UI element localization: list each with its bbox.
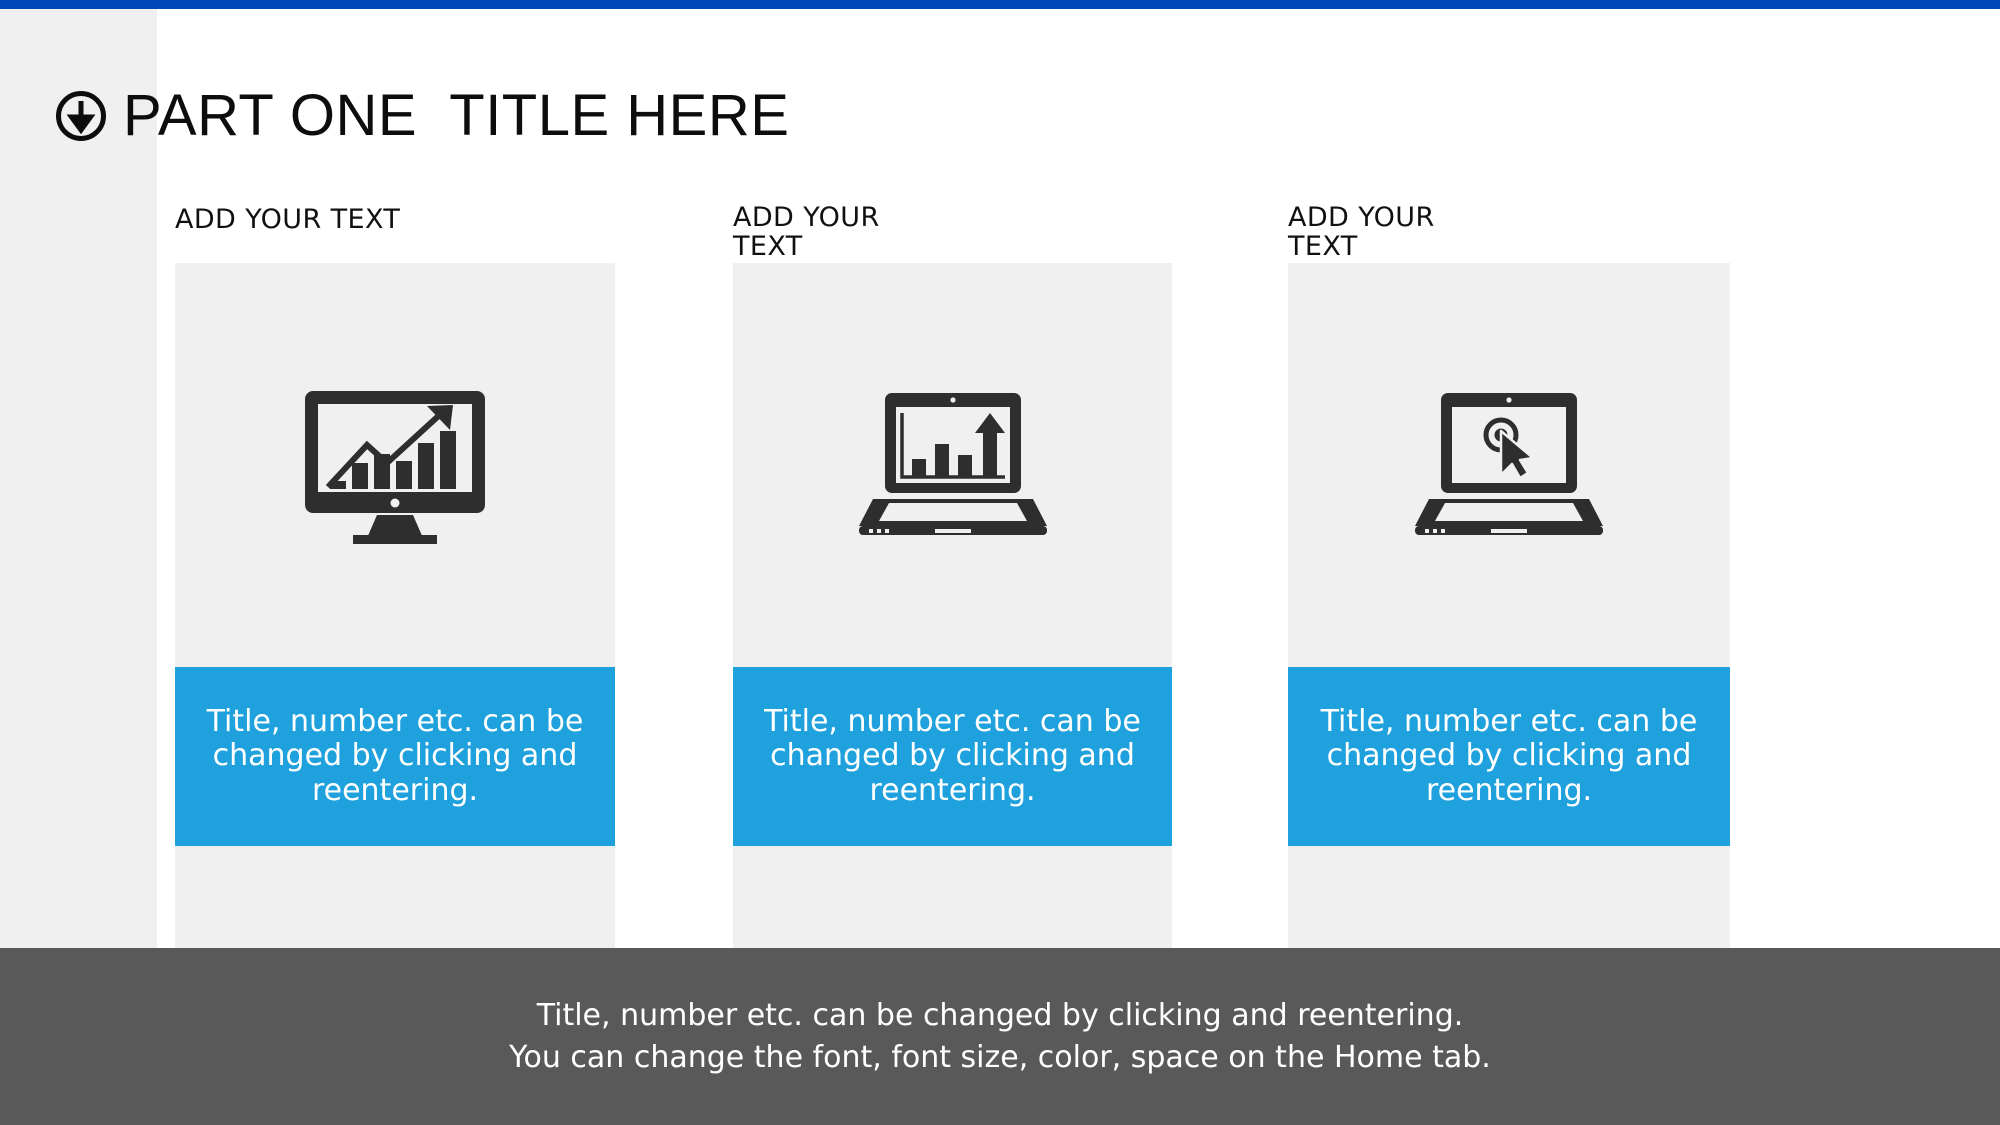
card-caption-2: Title, number etc. can be changed by cli… [733,667,1172,846]
card-caption-3: Title, number etc. can be changed by cli… [1288,667,1730,846]
card-header-2: ADD YOUR TEXT [733,203,880,261]
laptop-bar-chart-arrow-icon [853,383,1053,548]
content-card-2[interactable]: ADD YOUR TEXT [733,263,1172,948]
card-header-3: ADD YOUR TEXT [1288,203,1435,261]
desktop-monitor-growth-chart-icon [295,383,495,548]
slide-title-row: PART ONE TITLE HERE [55,78,789,154]
top-accent-bar [0,0,2000,9]
card-header-1: ADD YOUR TEXT [175,205,400,234]
circle-down-arrow-icon [55,90,107,142]
card-icon-slot-2 [733,263,1172,667]
card-icon-slot-3 [1288,263,1730,667]
slide-canvas: PART ONE TITLE HERE ADD YOUR TEXT [0,0,2000,1125]
laptop-click-cursor-icon [1409,383,1609,548]
footer-line-2: You can change the font, font size, colo… [509,1040,1491,1076]
card-icon-slot-1 [175,263,615,667]
card-caption-1: Title, number etc. can be changed by cli… [175,667,615,846]
content-card-3[interactable]: ADD YOUR TEXT [1288,263,1730,948]
page-title: PART ONE TITLE HERE [123,87,789,145]
footer-line-1: Title, number etc. can be changed by cli… [537,998,1464,1034]
content-card-1[interactable]: ADD YOUR TEXT Title [175,263,615,948]
footer-note-bar: Title, number etc. can be changed by cli… [0,948,2000,1125]
